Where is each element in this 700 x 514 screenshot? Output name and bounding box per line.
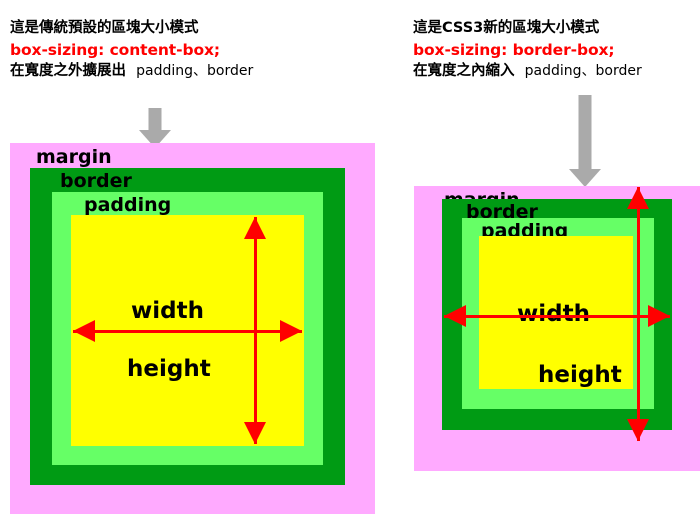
right-width-arrow-tip-left [444,305,466,327]
left-caption-code: box-sizing: content-box; [10,39,253,61]
left-width-arrow-line [73,330,302,333]
left-caption-line-3-latin: padding、border [136,63,253,79]
left-caption-line-3-cjk: 在寬度之外擴展出 [10,63,126,79]
left-height-arrow-tip-up [244,217,266,239]
left-height-label: height [127,358,211,381]
left-height-arrow-tip-down [244,422,266,444]
right-caption-code: box-sizing: border-box; [413,39,642,61]
left-content-box: width height [71,215,304,446]
right-padding-box: padding width height [462,218,654,409]
left-margin-box: margin border padding width [10,143,375,514]
arrow-down-icon [138,108,172,148]
left-width-arrow-tip-left [73,320,95,342]
right-height-label: height [538,364,622,387]
diagram-canvas: 這是傳統預設的區塊大小模式 box-sizing: content-box; 在… [0,0,700,514]
right-caption-line-3-cjk: 在寬度之內縮入 [413,63,515,79]
arrow-shaft [149,108,162,132]
left-width-arrow-tip-right [280,320,302,342]
right-caption-line-3: 在寬度之內縮入 padding、border [413,61,642,82]
right-width-arrow-tip-right [648,305,670,327]
right-caption-line-1: 這是CSS3新的區塊大小模式 [413,18,642,39]
left-width-label: width [131,300,204,323]
right-caption-line-3-latin: padding、border [525,63,642,79]
left-caption-line-3: 在寬度之外擴展出 padding、border [10,61,253,82]
right-height-arrow-tip-down [627,419,649,441]
right-content-box: width height [479,236,633,389]
arrow-shaft [579,95,592,171]
left-height-arrow-line [254,217,257,444]
left-padding-box: padding width height [52,192,323,465]
right-height-arrow-line [637,187,640,441]
right-height-arrow-tip-up [627,187,649,209]
left-margin-label: margin [36,148,112,167]
arrow-head [569,169,601,187]
left-caption: 這是傳統預設的區塊大小模式 box-sizing: content-box; 在… [10,18,253,81]
right-margin-box: margin border padding width height [414,186,700,471]
right-border-box: border padding width height [442,199,672,430]
left-padding-label: padding [84,196,171,215]
left-border-label: border [60,172,132,191]
arrow-down-icon [568,95,602,187]
right-caption: 這是CSS3新的區塊大小模式 box-sizing: border-box; 在… [413,18,642,81]
left-caption-line-1: 這是傳統預設的區塊大小模式 [10,18,253,39]
left-border-box: border padding width [30,168,345,485]
